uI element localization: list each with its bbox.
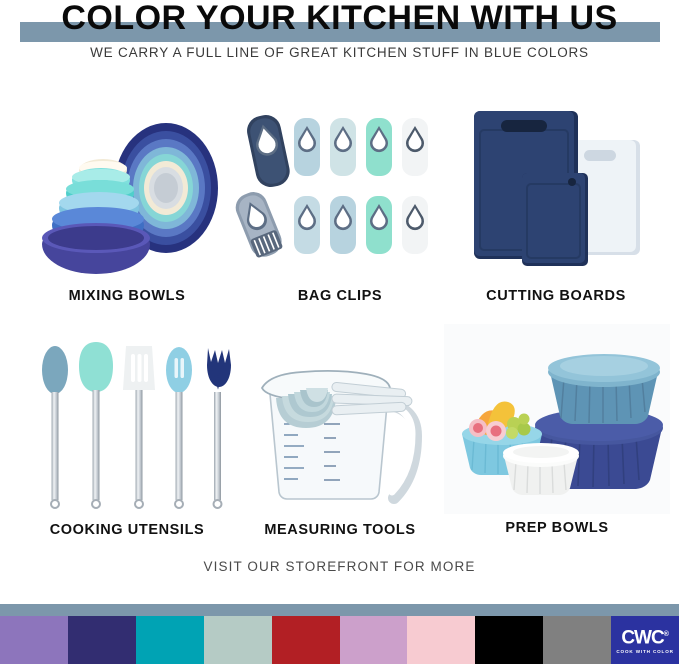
- infographic-root: COLOR YOUR KITCHEN WITH US WE CARRY A FU…: [0, 0, 679, 664]
- color-swatch: [543, 616, 611, 664]
- color-swatch: [68, 616, 136, 664]
- page-subtitle: WE CARRY A FULL LINE OF GREAT KITCHEN ST…: [0, 45, 679, 60]
- product-label: COOKING UTENSILS: [14, 522, 240, 538]
- color-swatch: [136, 616, 204, 664]
- product-label: MEASURING TOOLS: [232, 522, 448, 538]
- color-swatch: [204, 616, 272, 664]
- mixing-bowls-image: [14, 98, 240, 283]
- registered-trademark-icon: ®: [664, 631, 669, 638]
- product-grid: MIXING BOWLS: [0, 78, 679, 548]
- product-cell-prep-bowls[interactable]: PREP BOWLS: [444, 324, 670, 562]
- color-swatch: [340, 616, 408, 664]
- product-cell-mixing-bowls[interactable]: MIXING BOWLS: [14, 98, 240, 328]
- cooking-utensils-image: [14, 332, 240, 517]
- product-cell-cutting-boards[interactable]: CUTTING BOARDS: [444, 98, 668, 328]
- color-swatch-strip: CWC® COOK WITH COLOR: [0, 616, 679, 664]
- logo-tagline: COOK WITH COLOR: [616, 648, 673, 655]
- color-swatch: [0, 616, 68, 664]
- bag-clips-image: [232, 98, 448, 283]
- prep-bowls-image: [444, 324, 670, 514]
- header: COLOR YOUR KITCHEN WITH US WE CARRY A FU…: [0, 0, 679, 72]
- product-cell-measuring-tools[interactable]: MEASURING TOOLS: [232, 332, 448, 562]
- product-label: MIXING BOWLS: [14, 288, 240, 304]
- product-label: BAG CLIPS: [232, 288, 448, 304]
- footer-accent-band: [0, 604, 679, 616]
- page-title: COLOR YOUR KITCHEN WITH US: [0, 0, 679, 38]
- brand-logo: CWC® COOK WITH COLOR: [611, 616, 679, 664]
- measuring-tools-image: [232, 332, 448, 517]
- product-label: CUTTING BOARDS: [444, 288, 668, 304]
- product-cell-cooking-utensils[interactable]: COOKING UTENSILS: [14, 332, 240, 562]
- storefront-note: VISIT OUR STOREFRONT FOR MORE: [0, 559, 679, 574]
- color-swatch: [475, 616, 543, 664]
- product-label: PREP BOWLS: [444, 520, 670, 536]
- product-cell-bag-clips[interactable]: BAG CLIPS: [232, 98, 448, 328]
- color-swatch: [272, 616, 340, 664]
- cutting-boards-image: [444, 98, 668, 283]
- color-swatch: [407, 616, 475, 664]
- logo-text: CWC: [621, 627, 663, 648]
- logo-wordmark: CWC®: [621, 625, 669, 647]
